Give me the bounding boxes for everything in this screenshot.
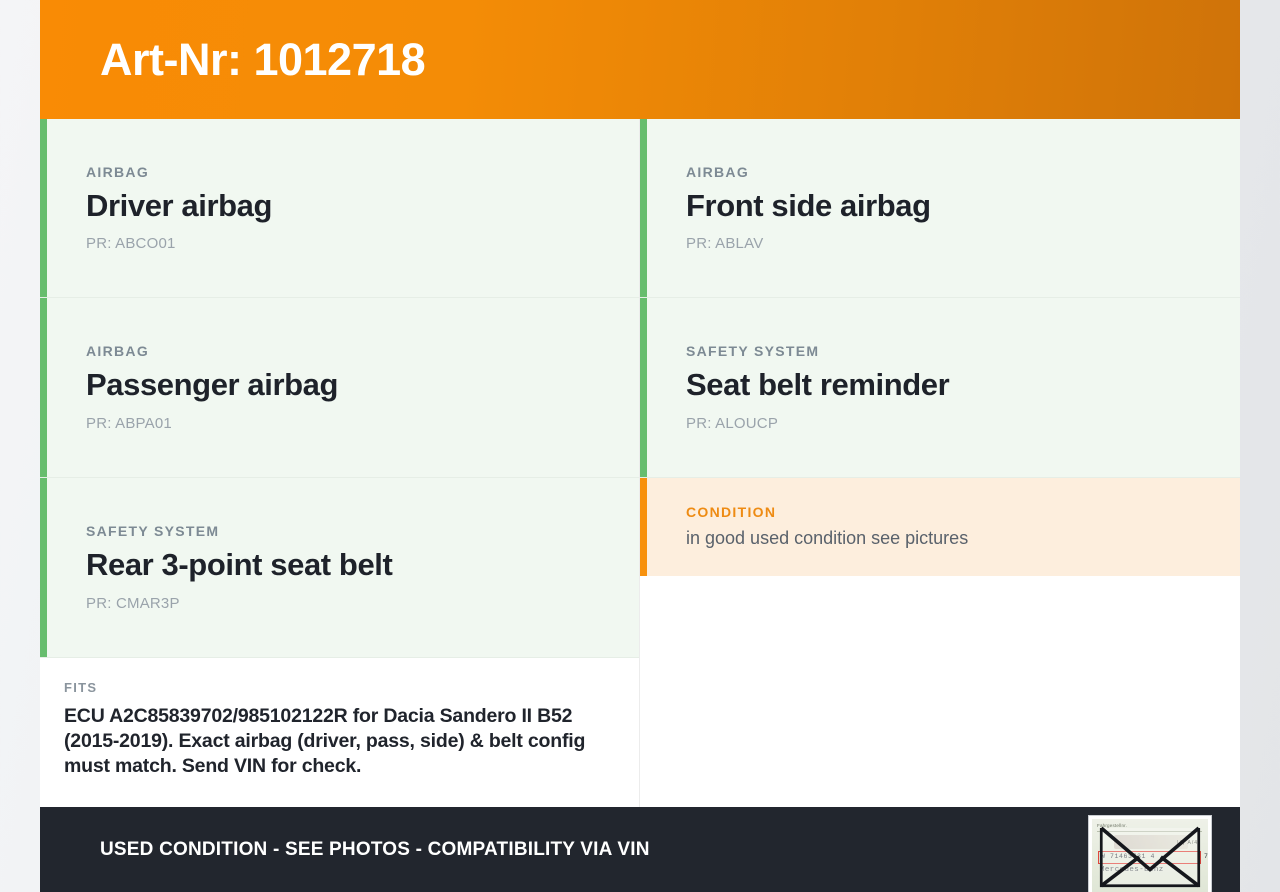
vehicle-document-image: Fahrgestellnr. |4| A/4 W 71463J31 4 7 Me… [1092, 819, 1208, 892]
spec-column-left: AIRBAG Driver airbag PR: ABCO01 AIRBAG P… [40, 119, 640, 658]
spec-column-right: AIRBAG Front side airbag PR: ABLAV SAFET… [640, 119, 1240, 658]
broken-image-thumbnail: Fahrgestellnr. |4| A/4 W 71463J31 4 7 Me… [1088, 815, 1212, 892]
spec-category: SAFETY SYSTEM [86, 523, 593, 539]
fits-block: FITS ECU A2C85839702/985102122R for Daci… [40, 658, 640, 807]
spec-grid: AIRBAG Driver airbag PR: ABCO01 AIRBAG P… [40, 119, 1240, 658]
spec-title: Rear 3-point seat belt [86, 548, 593, 583]
spec-pr-code: PR: CMAR3P [86, 595, 593, 612]
broken-image-envelope-icon [1092, 819, 1208, 892]
spec-category: AIRBAG [86, 164, 593, 180]
footer-text: USED CONDITION - SEE PHOTOS - COMPATIBIL… [100, 839, 650, 861]
spec-pr-code: PR: ALOUCP [686, 415, 1194, 432]
spec-title: Seat belt reminder [686, 368, 1194, 403]
spec-category: AIRBAG [86, 343, 593, 359]
content-sheet: Art-Nr: 1012718 AIRBAG Driver airbag PR:… [40, 0, 1240, 892]
page-title: Art-Nr: 1012718 [100, 37, 425, 82]
condition-text: in good used condition see pictures [686, 527, 1194, 550]
fits-text: ECU A2C85839702/985102122R for Dacia San… [64, 704, 593, 778]
header-bar: Art-Nr: 1012718 [40, 0, 1240, 119]
spec-pr-code: PR: ABCO01 [86, 235, 593, 252]
spec-card-seat-belt-reminder: SAFETY SYSTEM Seat belt reminder PR: ALO… [640, 298, 1240, 478]
spec-card-driver-airbag: AIRBAG Driver airbag PR: ABCO01 [40, 119, 639, 298]
condition-card: CONDITION in good used condition see pic… [640, 478, 1240, 576]
fits-label: FITS [64, 680, 593, 695]
spec-pr-code: PR: ABPA01 [86, 415, 593, 432]
spec-card-passenger-airbag: AIRBAG Passenger airbag PR: ABPA01 [40, 298, 639, 478]
spec-title: Passenger airbag [86, 368, 593, 403]
spec-category: AIRBAG [686, 164, 1194, 180]
spec-title: Front side airbag [686, 189, 1194, 224]
spec-title: Driver airbag [86, 189, 593, 224]
fits-row: FITS ECU A2C85839702/985102122R for Daci… [40, 658, 1240, 807]
fits-right-spacer [640, 658, 1240, 807]
footer-bar: USED CONDITION - SEE PHOTOS - COMPATIBIL… [40, 807, 1240, 892]
spec-card-front-side-airbag: AIRBAG Front side airbag PR: ABLAV [640, 119, 1240, 298]
condition-label: CONDITION [686, 504, 1194, 520]
spec-card-rear-seat-belt: SAFETY SYSTEM Rear 3-point seat belt PR:… [40, 478, 639, 658]
product-spec-sheet: Art-Nr: 1012718 AIRBAG Driver airbag PR:… [0, 0, 1280, 892]
spec-pr-code: PR: ABLAV [686, 235, 1194, 252]
right-column-filler [640, 576, 1240, 658]
spec-category: SAFETY SYSTEM [686, 343, 1194, 359]
